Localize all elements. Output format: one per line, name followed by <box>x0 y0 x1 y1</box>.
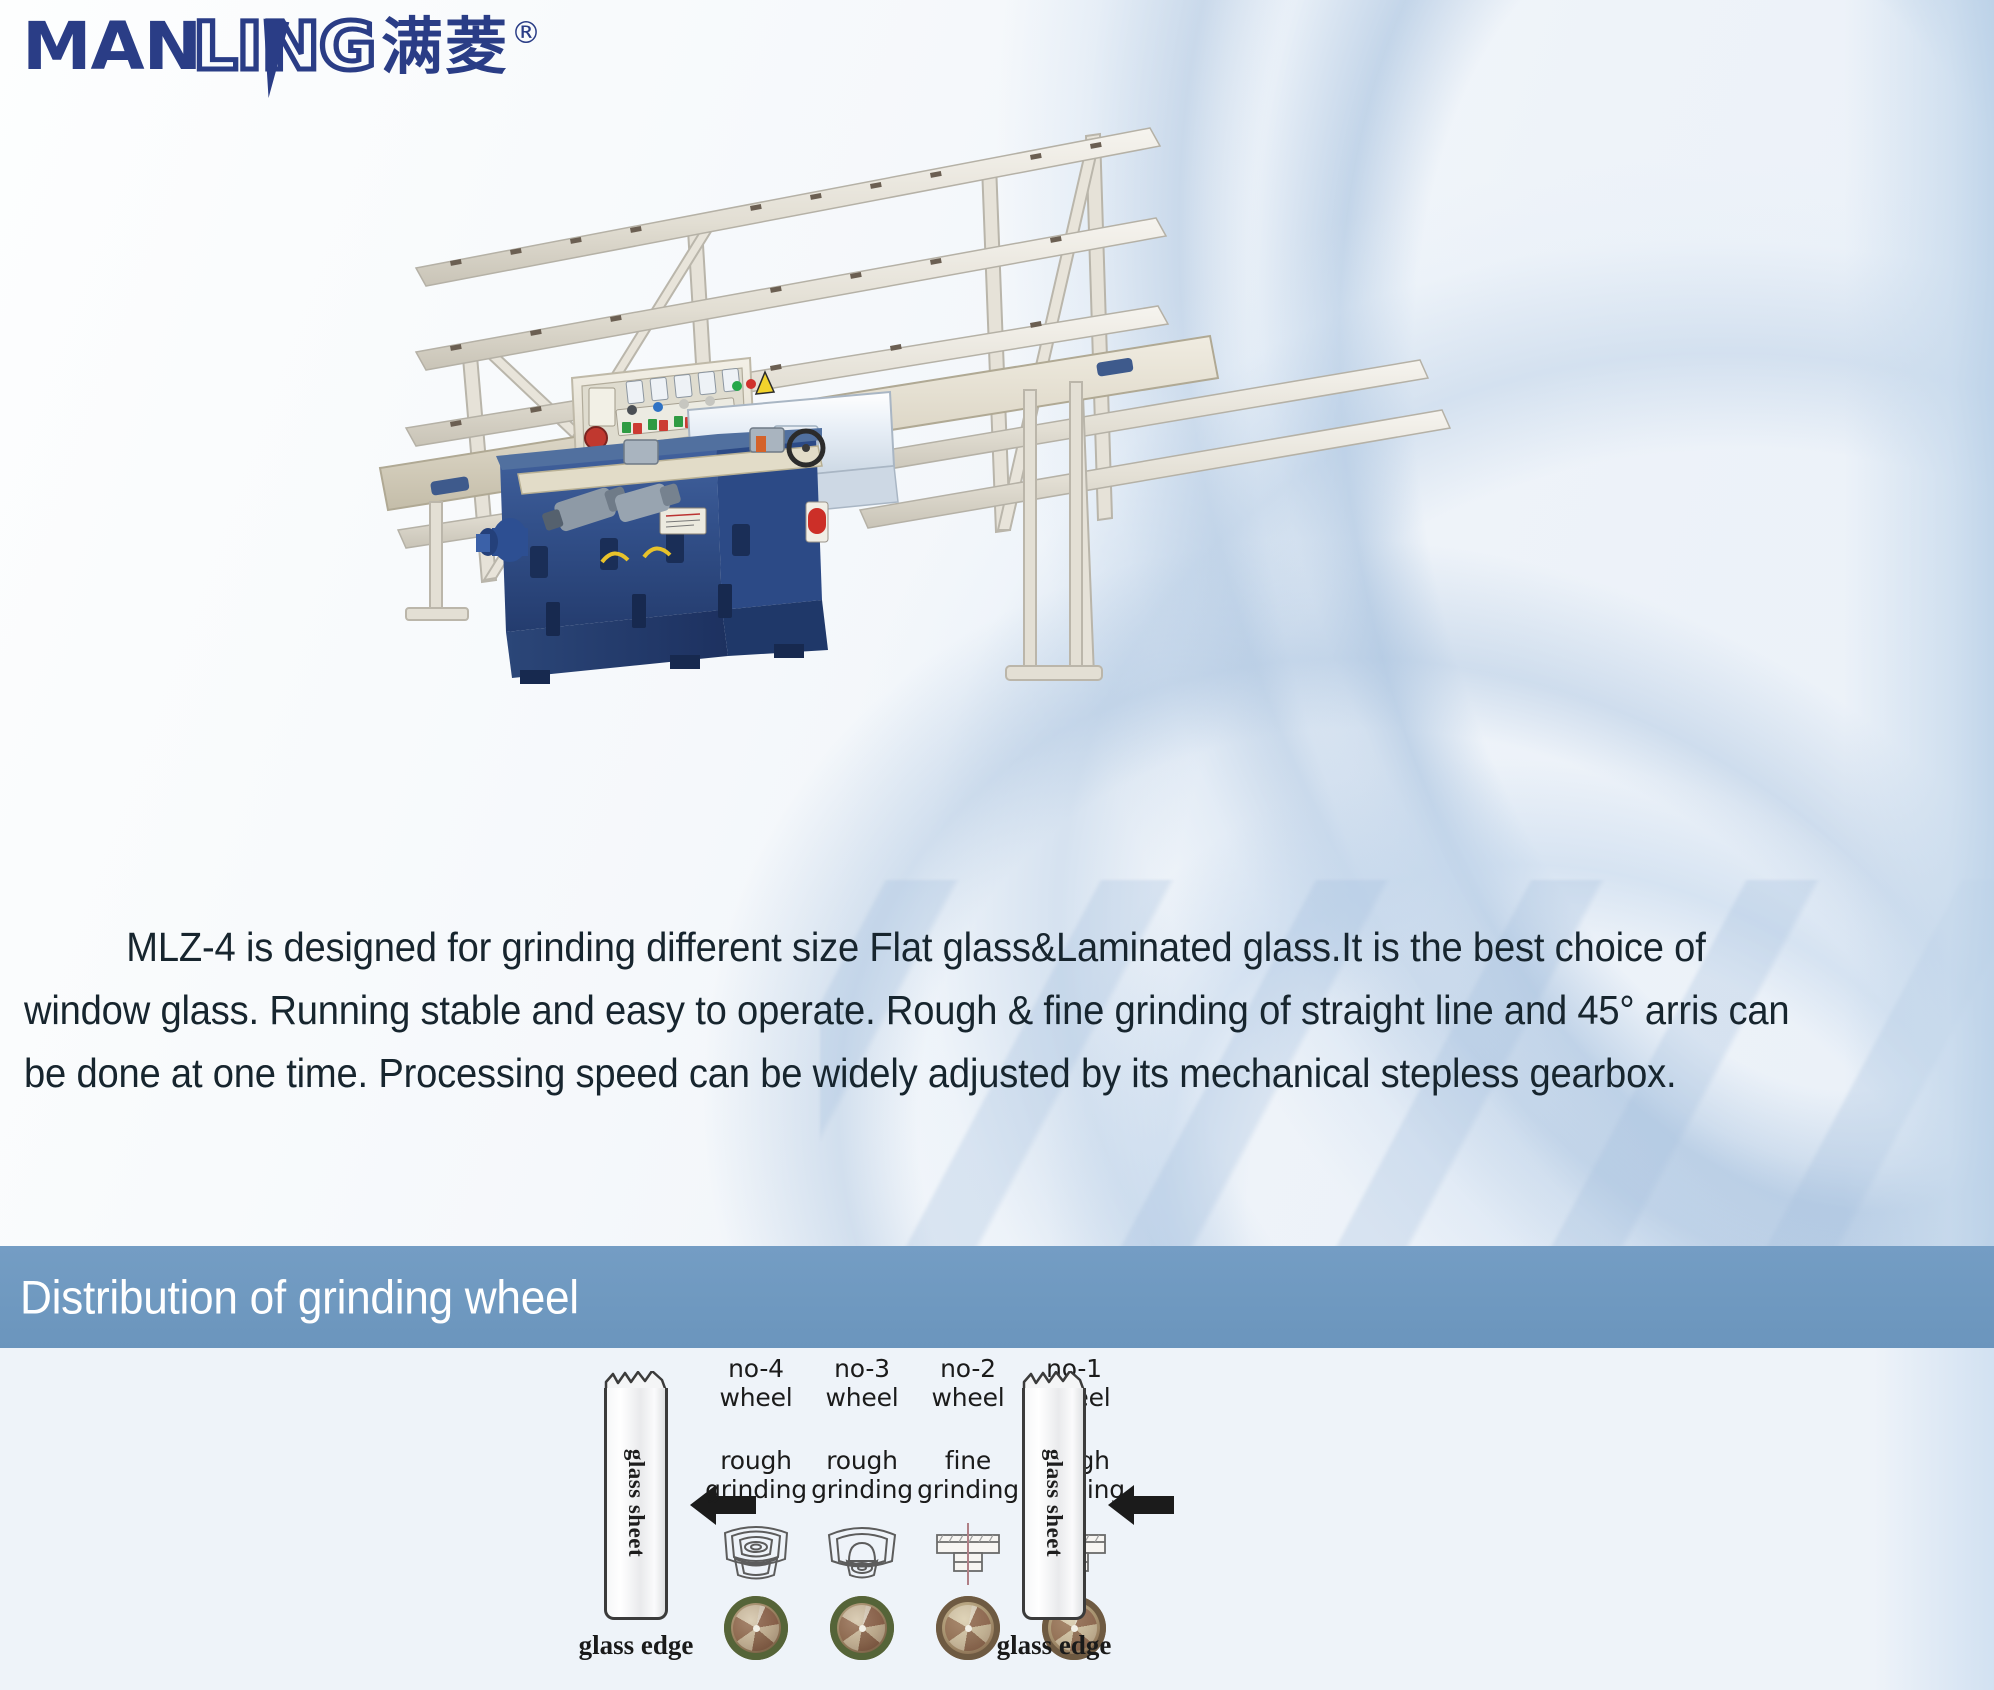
wheel-number-no-3: no-3 <box>834 1354 890 1383</box>
wheel-photo-no-3 <box>806 1596 918 1660</box>
wheel-column-no-3: no-3 wheel rough grinding <box>806 1354 918 1660</box>
glass-plate-body-right: glass sheet <box>1022 1388 1086 1620</box>
product-page: MAN LING 满菱 ® <box>0 0 1994 1690</box>
disc-hub-3 <box>965 1625 972 1632</box>
grind-type-no-3: rough grinding <box>806 1446 918 1504</box>
grind-word2-no-3: grinding <box>811 1475 913 1504</box>
grind-word1-no-2: fine <box>945 1446 991 1475</box>
wheel-profile-no-4 <box>700 1516 812 1592</box>
registered-trademark-icon: ® <box>511 16 541 51</box>
background-right-edge <box>1844 0 1994 1246</box>
wheel-unit-no-2: wheel <box>932 1383 1005 1412</box>
grinding-disc-bronze-1 <box>936 1596 1000 1660</box>
logo-text-man: MAN <box>22 14 201 80</box>
section-banner: Distribution of grinding wheel <box>0 1246 1994 1348</box>
wheel-photo-no-4 <box>700 1596 812 1660</box>
disc-hub-2 <box>859 1625 866 1632</box>
grind-type-no-4: rough grinding <box>700 1446 812 1504</box>
grinding-disc-green-2 <box>830 1596 894 1660</box>
wheel-profile-no-2 <box>912 1516 1024 1592</box>
grinding-wheel-diagram: glass sheet glass edge no-4 wheel rough … <box>0 1348 1994 1690</box>
disc-hub-1 <box>753 1625 760 1632</box>
glass-sheet-label-left: glass sheet <box>623 1448 649 1556</box>
grind-word2-no-2: grinding <box>917 1475 1019 1504</box>
wheel-name-no-2: no-2 wheel <box>912 1354 1024 1412</box>
wheel-profile-no-3 <box>806 1516 918 1592</box>
wheel-column-no-4: no-4 wheel rough grinding <box>700 1354 812 1660</box>
wheel-name-no-3: no-3 wheel <box>806 1354 918 1412</box>
glass-edge-label-left: glass edge <box>579 1630 694 1661</box>
wheel-unit-no-4: wheel <box>720 1383 793 1412</box>
grind-word1-no-3: rough <box>826 1446 898 1475</box>
product-description: MLZ-4 is designed for grinding different… <box>24 916 1830 1105</box>
wheel-number-no-4: no-4 <box>728 1354 784 1383</box>
arrow-left-icon-2 <box>1108 1482 1174 1528</box>
grinding-disc-green-1 <box>724 1596 788 1660</box>
glass-sheet-label-right: glass sheet <box>1041 1448 1067 1556</box>
wheel-unit-no-3: wheel <box>826 1383 899 1412</box>
glass-plate-body-left: glass sheet <box>604 1388 668 1620</box>
banner-title: Distribution of grinding wheel <box>20 1270 579 1325</box>
wheel-name-no-4: no-4 wheel <box>700 1354 812 1412</box>
wheel-column-no-2: no-2 wheel fine grinding <box>912 1354 1024 1660</box>
glass-sheet-right: glass sheet <box>1022 1388 1086 1620</box>
brand-logo: MAN LING 满菱 ® <box>22 14 541 80</box>
grind-type-no-2: fine grinding <box>912 1446 1024 1504</box>
glass-sheet-left: glass sheet <box>604 1388 668 1620</box>
grind-word1-no-4: rough <box>720 1446 792 1475</box>
diagram-right-edge <box>1874 1348 1994 1690</box>
machine-photo: ML <box>370 110 1550 720</box>
glass-edge-label-right: glass edge <box>997 1630 1112 1661</box>
grind-word2-no-4: grinding <box>705 1475 807 1504</box>
wheel-number-no-2: no-2 <box>940 1354 996 1383</box>
logo-text-chinese: 满菱 <box>381 14 509 79</box>
